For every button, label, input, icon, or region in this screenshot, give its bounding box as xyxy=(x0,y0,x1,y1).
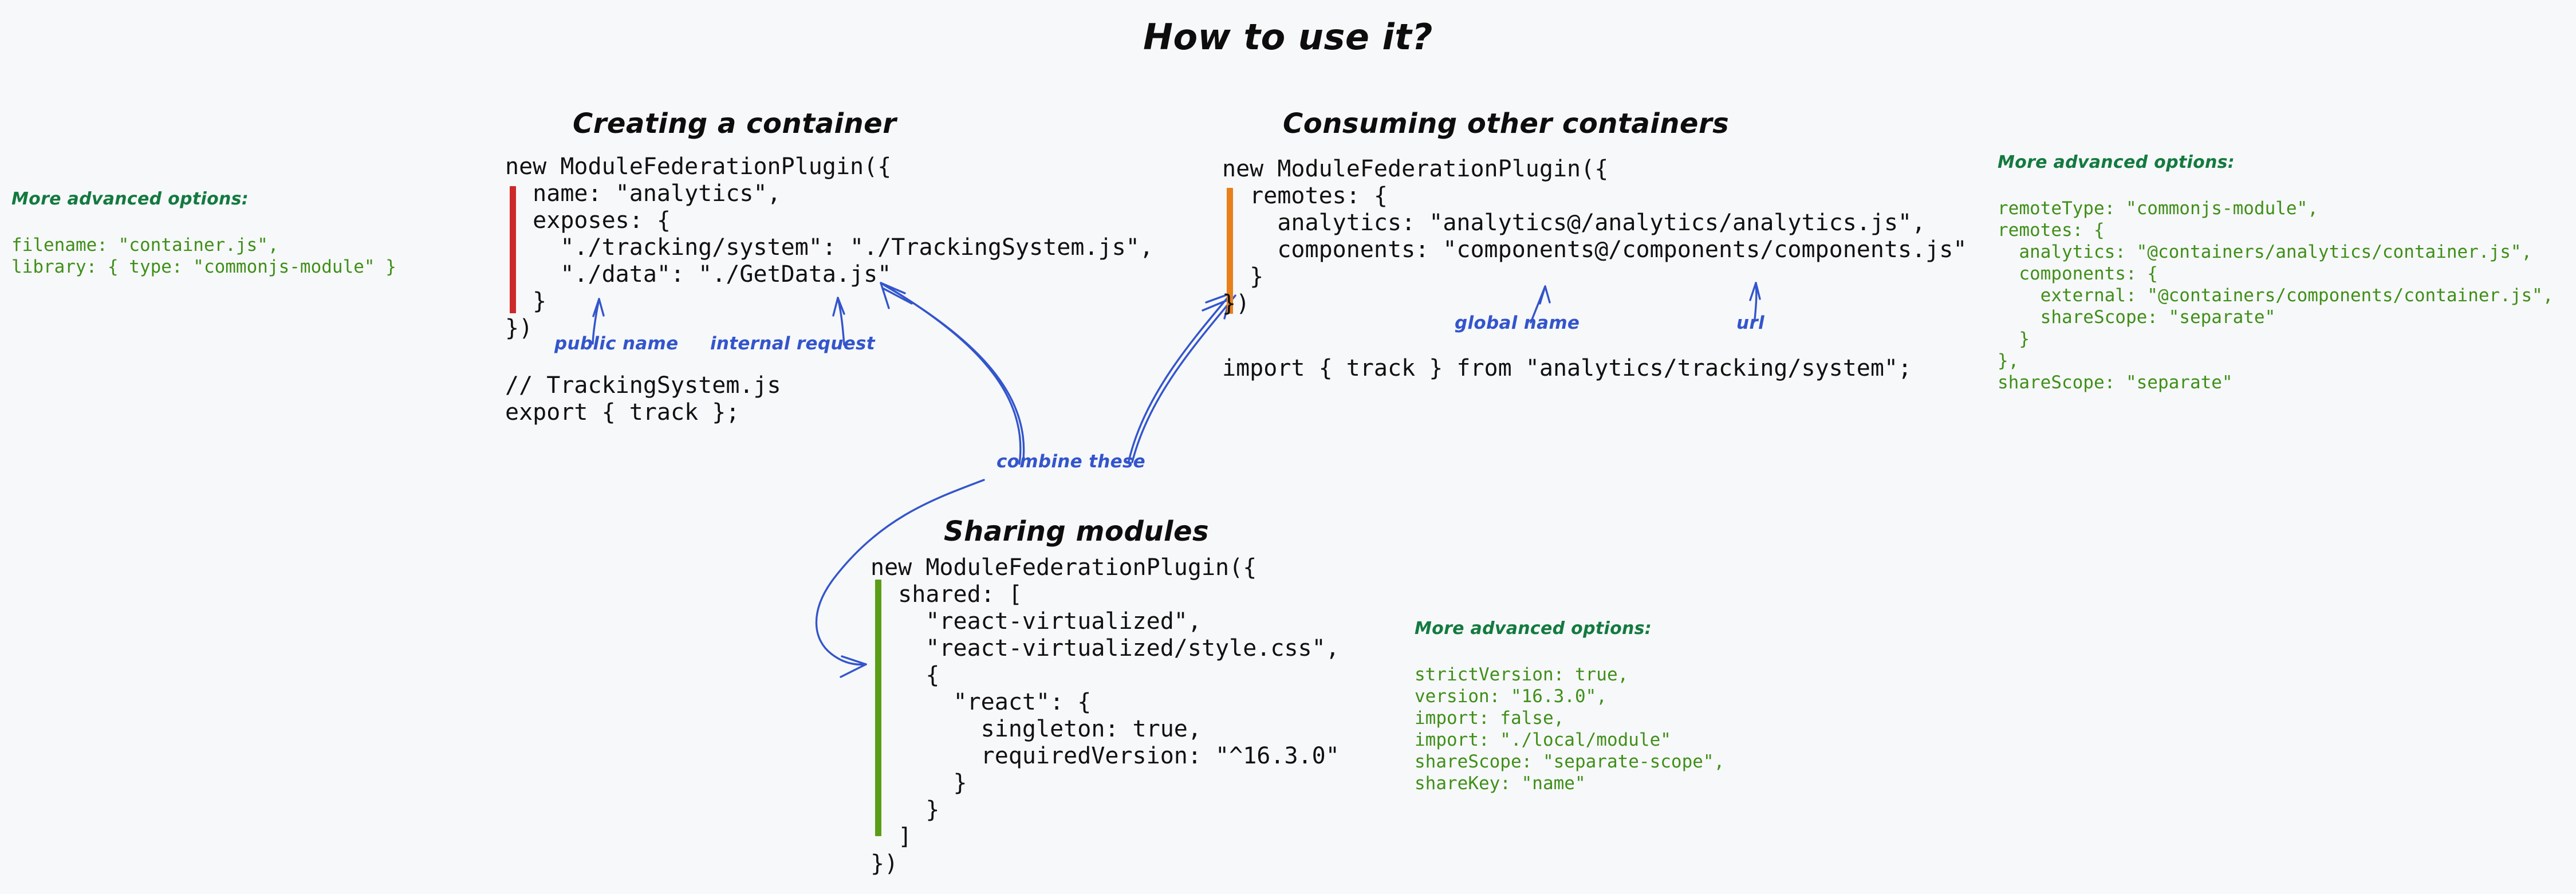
consuming-containers-title: Consuming other containers xyxy=(1283,108,1729,140)
sharing-modules-title: Sharing modules xyxy=(944,515,1209,548)
annotation-public-name: public name xyxy=(554,333,679,354)
sharing-modules-code: new ModuleFederationPlugin({ shared: [ "… xyxy=(871,554,1340,877)
left-advanced-options-note: More advanced options: filename: "contai… xyxy=(11,167,396,300)
annotation-combine-these: combine these xyxy=(996,451,1145,472)
left-note-body: filename: "container.js", library: { typ… xyxy=(11,234,396,278)
sharing-note-body: strictVersion: true, version: "16.3.0", … xyxy=(1415,664,1724,794)
sharing-note-heading: More advanced options: xyxy=(1415,619,1724,639)
creating-container-code: new ModuleFederationPlugin({ name: "anal… xyxy=(505,153,1153,342)
annotation-global-name: global name xyxy=(1455,313,1580,333)
page-title: How to use it? xyxy=(0,16,2576,58)
creating-container-title: Creating a container xyxy=(573,108,896,140)
left-note-heading: More advanced options: xyxy=(11,189,396,209)
consuming-containers-code: new ModuleFederationPlugin({ remotes: { … xyxy=(1222,156,1967,317)
annotation-internal-request: internal request xyxy=(710,333,875,354)
diagram-canvas: How to use it? More advanced options: fi… xyxy=(0,0,2576,894)
annotation-url: url xyxy=(1736,313,1764,333)
import-statement: import { track } from "analytics/trackin… xyxy=(1222,355,1912,382)
tracking-system-snippet: // TrackingSystem.js export { track }; xyxy=(505,372,781,426)
right-advanced-options-note: More advanced options: remoteType: "comm… xyxy=(1998,131,2554,415)
right-note-body: remoteType: "commonjs-module", remotes: … xyxy=(1998,198,2554,393)
sharing-advanced-options-note: More advanced options: strictVersion: tr… xyxy=(1415,597,1724,816)
right-note-heading: More advanced options: xyxy=(1998,152,2554,172)
